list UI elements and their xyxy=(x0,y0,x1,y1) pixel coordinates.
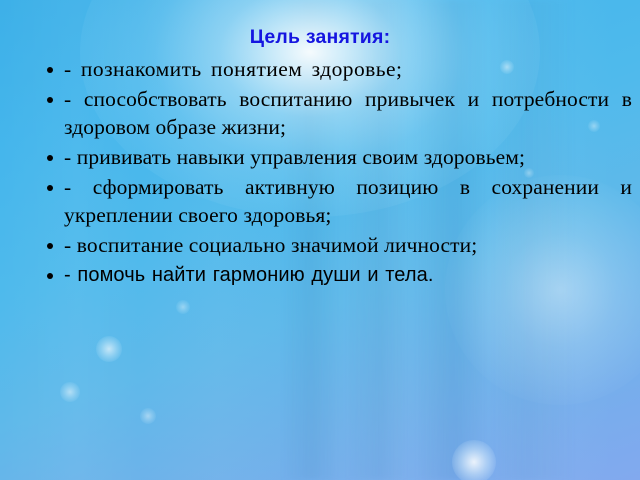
bullet-dot-icon xyxy=(47,67,53,73)
bullet-item: - сформировать активную позицию в сохран… xyxy=(40,174,632,230)
bullet-item: - воспитание социально значимой личности… xyxy=(40,232,612,260)
bullet-item-text: - сформировать активную позицию в сохран… xyxy=(64,175,632,227)
bullet-dot-icon xyxy=(47,97,53,103)
bullet-item: - прививать навыки управления своим здор… xyxy=(40,144,624,172)
bullet-item-text: - прививать навыки управления своим здор… xyxy=(64,145,525,169)
bullet-item-text: - познакомить понятием здоровье; xyxy=(64,57,402,81)
bullet-dot-icon xyxy=(47,243,53,249)
slide-title: Цель занятия: xyxy=(0,27,640,48)
bullet-item: - познакомить понятием здоровье; xyxy=(40,56,610,84)
bullet-dot-icon xyxy=(47,273,53,279)
slide-content: Цель занятия: - познакомить понятием здо… xyxy=(0,0,640,480)
bullet-dot-icon xyxy=(47,155,53,161)
objectives-bullet-list: - познакомить понятием здоровье; - спосо… xyxy=(40,56,610,290)
bullet-item: - помочь найти гармонию души и тела. xyxy=(40,262,610,288)
bullet-item-text: - помочь найти гармонию души и тела. xyxy=(64,264,434,286)
bullet-item-text: - воспитание социально значимой личности… xyxy=(64,233,477,257)
bullet-item: - способствовать воспитанию привычек и п… xyxy=(40,86,632,142)
bullet-item-text: - способствовать воспитанию привычек и п… xyxy=(64,87,632,139)
bullet-dot-icon xyxy=(47,185,53,191)
slide: Цель занятия: - познакомить понятием здо… xyxy=(0,0,640,480)
